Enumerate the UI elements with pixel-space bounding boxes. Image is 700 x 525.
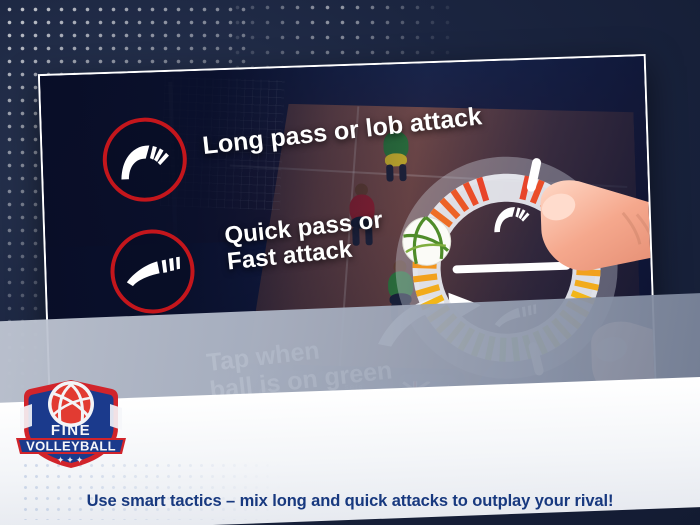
swipe-long-arc-icon — [116, 136, 173, 184]
caption-text: Use smart tactics – mix long and quick a… — [0, 492, 700, 511]
logo-text-fine: FINE — [51, 422, 91, 439]
swipe-short-flick-icon — [123, 254, 182, 290]
fine-volleyball-logo[interactable]: FINE VOLLEYBALL ✦✦✦ — [12, 378, 130, 470]
tutorial-screenshot: 00 sets 0 ★ ★ ★ ★ — [0, 0, 700, 525]
logo-text-volleyball: VOLLEYBALL — [26, 439, 116, 454]
logo-stars: ✦✦✦ — [57, 455, 86, 465]
gauge-tick — [413, 276, 437, 279]
caption-container: Use smart tactics – mix long and quick a… — [0, 492, 700, 511]
svg-text:FINE: FINE — [51, 422, 91, 439]
index-finger — [540, 176, 656, 272]
gauge-swipe-long-icon — [494, 207, 531, 233]
